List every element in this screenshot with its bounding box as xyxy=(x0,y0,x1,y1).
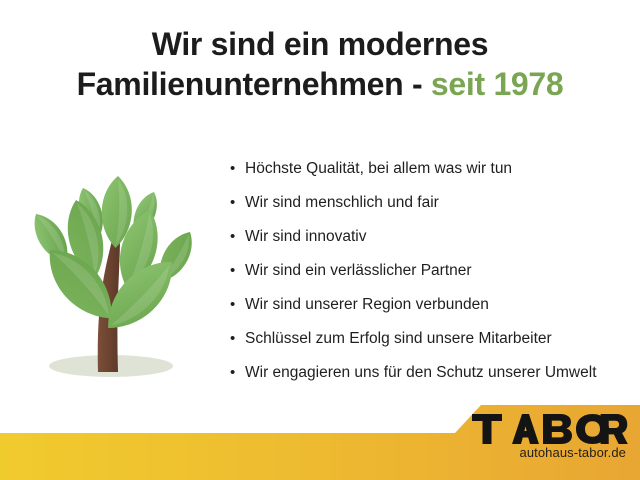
list-item: • Höchste Qualität, bei allem was wir tu… xyxy=(230,152,640,186)
list-item-label: Wir sind menschlich und fair xyxy=(245,186,640,220)
list-item: • Wir sind ein verlässlicher Partner xyxy=(230,254,640,288)
list-item-label: Wir sind unserer Region verbunden xyxy=(245,288,640,322)
headline-accent-year: seit 1978 xyxy=(431,66,564,102)
list-item-label: Schlüssel zum Erfolg sind unsere Mitarbe… xyxy=(245,322,640,356)
list-item: • Wir engagieren uns für den Schutz unse… xyxy=(230,356,640,390)
bullet-icon: • xyxy=(230,356,245,390)
brand-logo[interactable]: autohaus-tabor.de xyxy=(470,414,640,474)
list-item-label: Wir sind innovativ xyxy=(245,220,640,254)
list-item: • Wir sind unserer Region verbunden xyxy=(230,288,640,322)
bullet-icon: • xyxy=(230,322,245,356)
bullet-icon: • xyxy=(230,186,245,220)
logo-tagline: autohaus-tabor.de xyxy=(470,444,628,462)
list-item: • Schlüssel zum Erfolg sind unsere Mitar… xyxy=(230,322,640,356)
tabor-wordmark-icon xyxy=(472,414,628,444)
bullet-icon: • xyxy=(230,152,245,186)
tree-illustration xyxy=(8,158,220,390)
slide-canvas: Wir sind ein modernes Familienunternehme… xyxy=(0,0,640,480)
tree-icon xyxy=(8,158,220,390)
page-title: Wir sind ein modernes Familienunternehme… xyxy=(0,24,640,104)
headline-line-1: Wir sind ein modernes xyxy=(0,24,640,64)
bullet-icon: • xyxy=(230,288,245,322)
logo-wordmark xyxy=(470,414,628,444)
headline-line-2-main: Familienunternehmen - xyxy=(77,66,431,102)
list-item: • Wir sind innovativ xyxy=(230,220,640,254)
list-item-label: Höchste Qualität, bei allem was wir tun xyxy=(245,152,640,186)
headline-line-2: Familienunternehmen - seit 1978 xyxy=(0,64,640,104)
bullet-icon: • xyxy=(230,254,245,288)
list-item-label: Wir engagieren uns für den Schutz unsere… xyxy=(245,356,640,390)
bullet-icon: • xyxy=(230,220,245,254)
value-list: • Höchste Qualität, bei allem was wir tu… xyxy=(230,152,640,390)
list-item: • Wir sind menschlich und fair xyxy=(230,186,640,220)
list-item-label: Wir sind ein verlässlicher Partner xyxy=(245,254,640,288)
